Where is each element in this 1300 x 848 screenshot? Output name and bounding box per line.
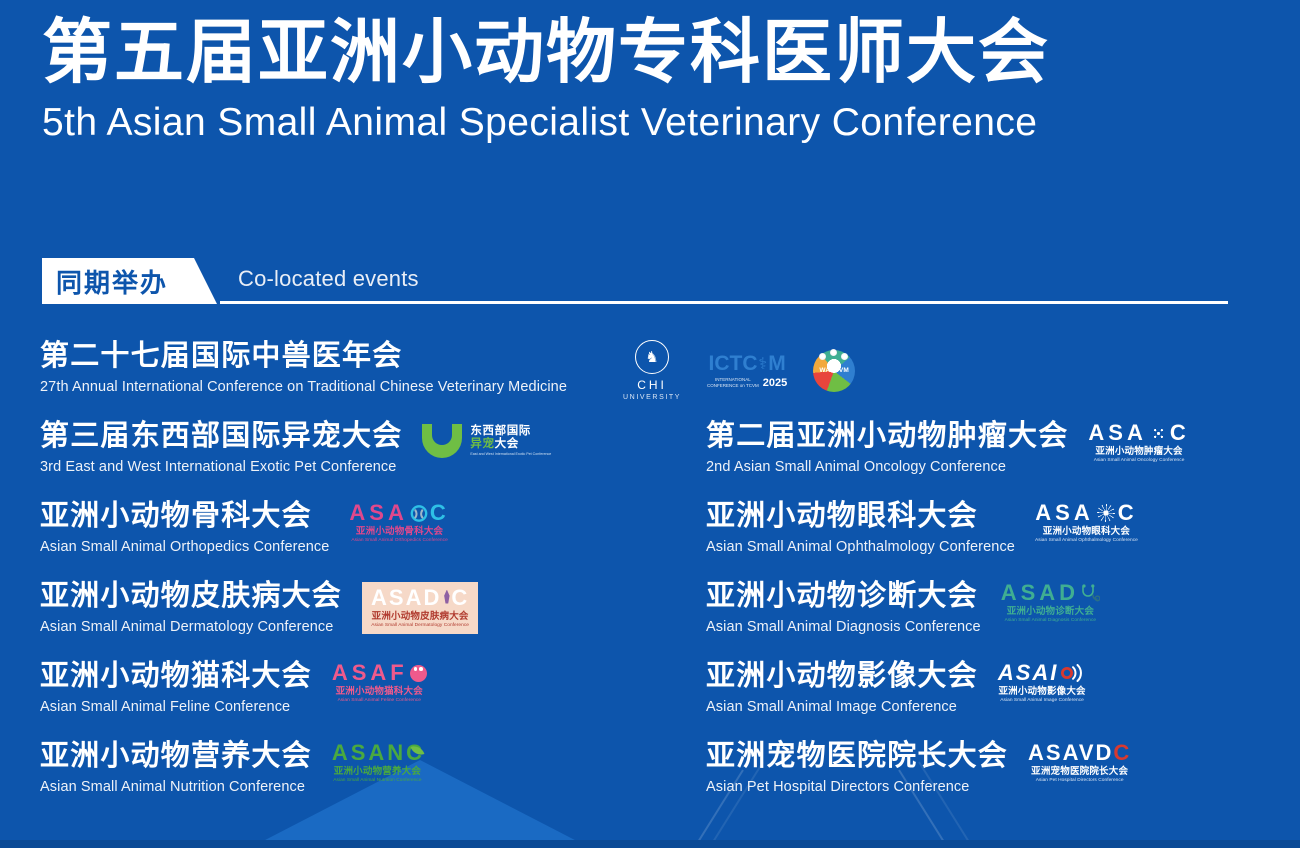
exotic-logo-line3: East and West International Exotic Pet C… (470, 453, 551, 457)
event-title-cn: 亚洲小动物骨科大会 (40, 500, 329, 534)
derm-word-a: ASAD (371, 587, 441, 609)
feline-sub-cn: 亚洲小动物猫科大会 (336, 687, 423, 697)
chi-logo-word: CHI (637, 378, 667, 392)
event-item-feline[interactable]: 亚洲小动物猫科大会 Asian Small Animal Feline Conf… (40, 660, 427, 716)
asaoc-oncology-logo: ASA C 亚洲小动物肿瘤大会 Asian Small Animal Oncol… (1088, 422, 1189, 463)
ictcvm-year: 2025 (763, 377, 787, 389)
event-text: 亚洲小动物影像大会 Asian Small Animal Image Confe… (706, 660, 978, 716)
event-title-cn: 亚洲小动物营养大会 (40, 740, 312, 774)
partner-logo-group: ♞ CHI UNIVERSITY ICTC⚕M INTERNATIONAL CO… (623, 340, 855, 401)
event-text: 亚洲小动物营养大会 Asian Small Animal Nutrition C… (40, 740, 312, 796)
event-item-ophthalmology[interactable]: 亚洲小动物眼科大会 Asian Small Animal Ophthalmolo… (706, 500, 1138, 556)
asavdc-directors-logo: ASAVD C 亚洲宠物医院院长大会 Asian Pet Hospital Di… (1028, 742, 1131, 783)
event-title-cn: 亚洲小动物猫科大会 (40, 660, 312, 694)
nutri-sub-en: Asian Small Animal Nutrition Conference (333, 779, 421, 784)
event-text: 第二十七届国际中兽医年会 27th Annual International C… (40, 340, 567, 396)
event-text: 亚洲小动物骨科大会 Asian Small Animal Orthopedics… (40, 500, 329, 556)
banner-tag-label: 同期举办 (42, 263, 168, 300)
event-text: 亚洲小动物猫科大会 Asian Small Animal Feline Conf… (40, 660, 312, 716)
event-title-en: 2nd Asian Small Animal Oncology Conferen… (706, 459, 1068, 476)
exotic-logo-line2-white: 大会 (495, 438, 519, 450)
diag-sub-cn: 亚洲小动物诊断大会 (1007, 607, 1094, 617)
asanc-nutrition-logo: ASANC 亚洲小动物营养大会 Asian Small Animal Nutri… (332, 742, 423, 783)
cat-face-icon (410, 665, 427, 682)
event-row: 亚洲小动物皮肤病大会 Asian Small Animal Dermatolog… (0, 580, 1300, 660)
event-text: 亚洲宠物医院院长大会 Asian Pet Hospital Directors … (706, 740, 1008, 796)
event-item-image[interactable]: 亚洲小动物影像大会 Asian Small Animal Image Confe… (706, 660, 1086, 716)
horse-emblem-icon: ♞ (635, 340, 669, 374)
image-word-a: ASAI (998, 662, 1059, 684)
asaoc-orthopedics-logo: ASA C 亚洲小动物骨科大会 Asian Small Animal Ortho… (349, 502, 449, 543)
page-title-cn: 第五届亚洲小动物专科医师大会 (42, 16, 1258, 90)
event-item-diagnosis[interactable]: 亚洲小动物诊断大会 Asian Small Animal Diagnosis C… (706, 580, 1100, 636)
event-title-en: Asian Small Animal Image Conference (706, 699, 978, 716)
event-text: 亚洲小动物眼科大会 Asian Small Animal Ophthalmolo… (706, 500, 1015, 556)
event-item-oncology[interactable]: 第二届亚洲小动物肿瘤大会 2nd Asian Small Animal Onco… (706, 420, 1190, 476)
event-title-en: 27th Annual International Conference on … (40, 379, 567, 396)
ophth-word-a: ASA (1035, 502, 1093, 524)
event-item-nutrition[interactable]: 亚洲小动物营养大会 Asian Small Animal Nutrition C… (40, 740, 423, 796)
ortho-word-b: C (430, 502, 450, 524)
ortho-sub-en: Asian Small Animal Orthopedics Conferenc… (351, 539, 447, 544)
event-title-cn: 亚洲小动物诊断大会 (706, 580, 981, 614)
avdc-sub-en: Asian Pet Hospital Directors Conference (1036, 779, 1124, 784)
avdc-word-b: C (1113, 742, 1131, 764)
event-row: 亚洲小动物营养大会 Asian Small Animal Nutrition C… (0, 740, 1300, 820)
event-text: 亚洲小动物皮肤病大会 Asian Small Animal Dermatolog… (40, 580, 342, 636)
asafc-feline-logo: ASAF 亚洲小动物猫科大会 Asian Small Animal Feline… (332, 662, 427, 703)
ophth-sub-cn: 亚洲小动物眼科大会 (1043, 527, 1130, 537)
avdc-sub-cn: 亚洲宠物医院院长大会 (1031, 767, 1128, 777)
event-item-tcvm[interactable]: 第二十七届国际中兽医年会 27th Annual International C… (40, 340, 855, 401)
banner-rule (220, 301, 1228, 304)
event-row: 第二十七届国际中兽医年会 27th Annual International C… (0, 340, 1300, 420)
avdc-word-a: ASAVD (1028, 742, 1113, 764)
nutri-sub-cn: 亚洲小动物营养大会 (334, 767, 421, 777)
chi-university-logo: ♞ CHI UNIVERSITY (623, 340, 681, 401)
event-row: 第三届东西部国际异宠大会 3rd East and West Internati… (0, 420, 1300, 500)
ictcvm-sub-line2: CONFERENCE on TCVM (707, 383, 759, 389)
watcvm-logo-word: WATCVM (819, 367, 849, 374)
ictcvm-logo-sub: INTERNATIONAL CONFERENCE on TCVM 2025 (707, 377, 787, 389)
asaoc-word-a: ASA (1088, 422, 1146, 444)
east-west-exotic-pet-logo: 东西部国际 异宠大会 East and West International E… (422, 424, 551, 458)
ophth-sub-en: Asian Small Animal Ophthalmology Confere… (1035, 539, 1138, 544)
event-item-exotic-pet[interactable]: 第三届东西部国际异宠大会 3rd East and West Internati… (40, 420, 551, 476)
asaoc-ophthalmology-logo: ASA C 亚洲小动物眼科大会 Asian Small Animal Ophth… (1035, 502, 1138, 543)
event-title-en: Asian Small Animal Orthopedics Conferenc… (40, 539, 329, 556)
banner-tag: 同期举办 (42, 258, 217, 304)
asaoc-sub-en: Asian Small Animal Oncology Conference (1094, 459, 1185, 464)
event-text: 第三届东西部国际异宠大会 3rd East and West Internati… (40, 420, 402, 476)
chi-logo-sub: UNIVERSITY (623, 394, 681, 401)
ophth-word-b: C (1118, 502, 1138, 524)
banner-label-en: Co-located events (238, 266, 419, 292)
derm-sub-en: Asian Small Animal Dermatology Conferenc… (371, 624, 469, 629)
derm-sub-cn: 亚洲小动物皮肤病大会 (372, 612, 469, 622)
event-text: 第二届亚洲小动物肿瘤大会 2nd Asian Small Animal Onco… (706, 420, 1068, 476)
event-title-en: Asian Small Animal Ophthalmology Confere… (706, 539, 1015, 556)
event-row: 亚洲小动物骨科大会 Asian Small Animal Orthopedics… (0, 500, 1300, 580)
event-title-cn: 第三届东西部国际异宠大会 (40, 420, 402, 454)
ortho-sub-cn: 亚洲小动物骨科大会 (356, 527, 443, 537)
event-title-en: Asian Small Animal Diagnosis Conference (706, 619, 981, 636)
event-text: 亚洲小动物诊断大会 Asian Small Animal Diagnosis C… (706, 580, 981, 636)
watcvm-logo: WATCVM (813, 350, 855, 392)
event-item-hospital-directors[interactable]: 亚洲宠物医院院长大会 Asian Pet Hospital Directors … (706, 740, 1131, 796)
image-sub-en: Asian Small Animal Image Conference (1000, 699, 1084, 704)
event-title-cn: 亚洲小动物眼科大会 (706, 500, 1015, 534)
event-title-en: Asian Small Animal Nutrition Conference (40, 779, 312, 796)
flame-icon (442, 590, 451, 604)
asaic-image-logo: ASAI 亚洲小动物影像大会 Asian Small Animal Image … (998, 662, 1087, 703)
event-title-en: Asian Small Animal Feline Conference (40, 699, 312, 716)
feline-sub-en: Asian Small Animal Feline Conference (338, 699, 421, 704)
event-title-cn: 亚洲宠物医院院长大会 (706, 740, 1008, 774)
eye-burst-icon (1097, 504, 1115, 522)
u-shape-icon (422, 424, 462, 458)
event-item-orthopedics[interactable]: 亚洲小动物骨科大会 Asian Small Animal Orthopedics… (40, 500, 450, 556)
derm-word-b: C (451, 587, 469, 609)
co-located-banner: 同期举办 Co-located events (42, 258, 1228, 304)
feline-word-a: ASAF (332, 662, 408, 684)
rod-of-asclepius-icon: ⚕ (759, 354, 768, 374)
asadc-diagnosis-logo: ASAD 亚洲小动物诊断大会 Asian Small Animal Diagno… (1001, 582, 1100, 623)
asaoc-word-b: C (1170, 422, 1190, 444)
exotic-logo-line1: 东西部国际 (470, 426, 551, 438)
event-title-en: Asian Small Animal Dermatology Conferenc… (40, 619, 342, 636)
poster-header: 第五届亚洲小动物专科医师大会 5th Asian Small Animal Sp… (42, 16, 1258, 144)
signal-wave-icon (1060, 664, 1086, 682)
watcvm-emblem-icon: WATCVM (813, 350, 855, 392)
asaoc-sub-cn: 亚洲小动物肿瘤大会 (1095, 447, 1182, 457)
event-title-en: Asian Pet Hospital Directors Conference (706, 779, 1008, 796)
ortho-word-a: ASA (349, 502, 407, 524)
stethoscope-icon (1080, 584, 1100, 602)
asadc-dermatology-logo: ASAD C 亚洲小动物皮肤病大会 Asian Small Animal Der… (362, 582, 478, 634)
ictcvm-logo: ICTC⚕M INTERNATIONAL CONFERENCE on TCVM … (707, 352, 787, 389)
nutri-word-a: ASANC (332, 742, 425, 764)
page-title-en: 5th Asian Small Animal Specialist Veteri… (42, 102, 1258, 145)
diag-sub-en: Asian Small Animal Diagnosis Conference (1005, 619, 1097, 624)
image-sub-cn: 亚洲小动物影像大会 (998, 687, 1085, 697)
events-list: 第二十七届国际中兽医年会 27th Annual International C… (0, 340, 1300, 820)
ictcvm-logo-word: ICTC⚕M (709, 352, 786, 376)
event-title-cn: 第二届亚洲小动物肿瘤大会 (706, 420, 1068, 454)
diag-word-a: ASAD (1001, 582, 1079, 604)
event-title-en: 3rd East and West International Exotic P… (40, 459, 402, 476)
event-item-dermatology[interactable]: 亚洲小动物皮肤病大会 Asian Small Animal Dermatolog… (40, 580, 478, 636)
event-title-cn: 第二十七届国际中兽医年会 (40, 340, 567, 374)
event-title-cn: 亚洲小动物影像大会 (706, 660, 978, 694)
bone-icon (410, 505, 428, 522)
halftone-circle-icon (1150, 425, 1167, 442)
event-row: 亚洲小动物猫科大会 Asian Small Animal Feline Conf… (0, 660, 1300, 740)
exotic-logo-line2-green: 异宠 (470, 438, 494, 450)
event-title-cn: 亚洲小动物皮肤病大会 (40, 580, 342, 614)
bottom-strip (0, 840, 1300, 848)
